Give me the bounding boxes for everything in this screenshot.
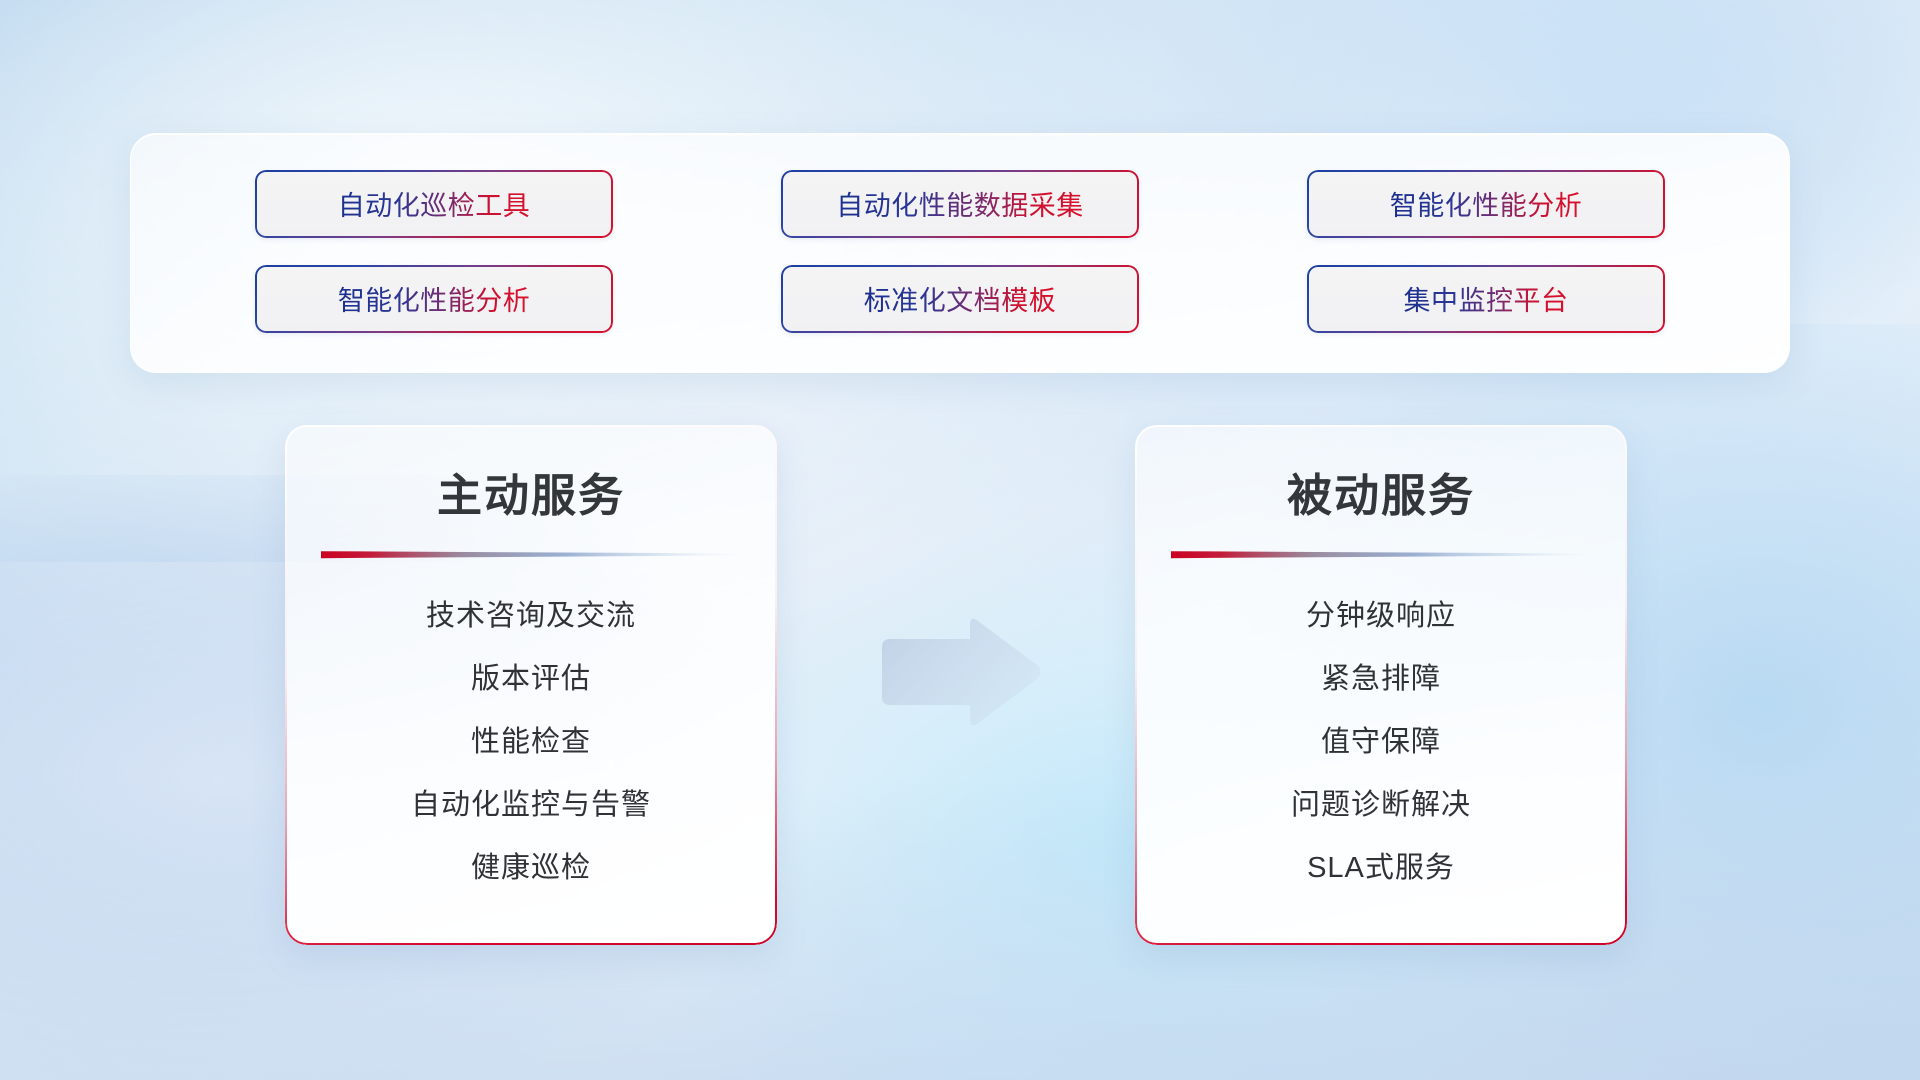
capability-tag-label: 标准化文档模板 xyxy=(864,279,1057,318)
capability-tag-label: 自动化巡检工具 xyxy=(338,184,531,223)
list-item: 技术咨询及交流 xyxy=(426,585,636,648)
card-title: 被动服务 xyxy=(1135,459,1627,524)
capability-tag-label: 智能化性能分析 xyxy=(1390,184,1583,223)
capability-tag-label: 智能化性能分析 xyxy=(338,279,531,318)
list-item: 问题诊断解决 xyxy=(1291,774,1471,837)
service-list: 技术咨询及交流 版本评估 性能检查 自动化监控与告警 健康巡检 xyxy=(285,585,777,900)
capability-tag[interactable]: 标准化文档模板 xyxy=(781,265,1139,333)
capability-tag[interactable]: 智能化性能分析 xyxy=(255,265,613,333)
capability-tag-label: 集中监控平台 xyxy=(1404,279,1569,318)
list-item: SLA式服务 xyxy=(1307,837,1455,900)
list-item: 自动化监控与告警 xyxy=(411,774,651,837)
list-item: 健康巡检 xyxy=(471,837,591,900)
list-item: 紧急排障 xyxy=(1321,648,1441,711)
service-card-proactive: 主动服务 技术咨询及交流 版本评估 性能检查 自动化监控与告警 健康巡检 xyxy=(285,425,777,945)
capability-tag[interactable]: 自动化性能数据采集 xyxy=(781,170,1139,238)
card-title: 主动服务 xyxy=(285,459,777,524)
capability-tag[interactable]: 智能化性能分析 xyxy=(1307,170,1665,238)
card-divider xyxy=(1171,550,1591,559)
flow-arrow-right-icon xyxy=(874,613,1046,731)
service-card-reactive: 被动服务 分钟级响应 紧急排障 值守保障 问题诊断解决 SLA式服务 xyxy=(1135,425,1627,945)
capability-tag-label: 自动化性能数据采集 xyxy=(836,184,1084,223)
card-divider xyxy=(321,550,741,559)
capability-panel: 自动化巡检工具 自动化性能数据采集 智能化性能分析 智能化性能分析 标准化文档模… xyxy=(130,133,1790,373)
list-item: 版本评估 xyxy=(471,648,591,711)
list-item: 分钟级响应 xyxy=(1306,585,1456,648)
list-item: 性能检查 xyxy=(471,711,591,774)
capability-tag[interactable]: 自动化巡检工具 xyxy=(255,170,613,238)
service-list: 分钟级响应 紧急排障 值守保障 问题诊断解决 SLA式服务 xyxy=(1135,585,1627,900)
capability-tag[interactable]: 集中监控平台 xyxy=(1307,265,1665,333)
list-item: 值守保障 xyxy=(1321,711,1441,774)
